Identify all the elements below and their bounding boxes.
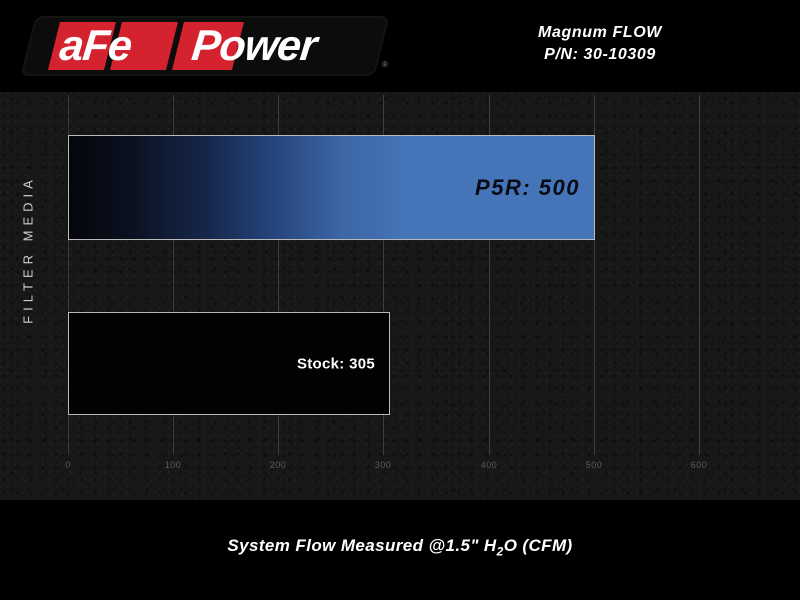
- bar-psr: P5R: 500: [68, 135, 595, 240]
- product-line-title: Magnum FLOW: [420, 22, 780, 44]
- footer-bar: System Flow Measured @1.5" H2O (CFM): [0, 500, 800, 600]
- header-bar: aFe Power ® Magnum FLOW P/N: 30-10309: [0, 0, 800, 92]
- xtick-0: 0: [38, 460, 98, 470]
- logo-text-power: Power: [189, 22, 318, 70]
- xtick-600: 600: [669, 460, 729, 470]
- part-number-label: P/N: 30-10309: [420, 44, 780, 66]
- trademark-icon: ®: [382, 61, 388, 69]
- xtick-100: 100: [143, 460, 203, 470]
- caption-subscript: 2: [497, 544, 504, 558]
- bar-stock: Stock: 305: [68, 312, 390, 415]
- bar-psr-value-label: P5R: 500: [475, 175, 580, 201]
- header-product-info: Magnum FLOW P/N: 30-10309: [420, 22, 780, 66]
- x-axis-caption: System Flow Measured @1.5" H2O (CFM): [0, 536, 800, 558]
- xtick-400: 400: [459, 460, 519, 470]
- afe-power-logo: aFe Power ®: [24, 14, 384, 78]
- gridline-600: [699, 95, 700, 455]
- logo-text-afe: aFe: [57, 22, 133, 70]
- afe-power-flow-chart-image: aFe Power ® Magnum FLOW P/N: 30-10309 FI…: [0, 0, 800, 600]
- xtick-300: 300: [353, 460, 413, 470]
- caption-text-post: O (CFM): [504, 536, 573, 555]
- xtick-200: 200: [248, 460, 308, 470]
- chart-plot-area: FILTER MEDIA P5R: 500 Stock: 305 0 100 2…: [0, 92, 800, 500]
- xtick-500: 500: [564, 460, 624, 470]
- bar-stock-value-label: Stock: 305: [297, 355, 375, 372]
- caption-text-pre: System Flow Measured @1.5" H: [227, 536, 496, 555]
- y-axis-label: FILTER MEDIA: [21, 160, 36, 340]
